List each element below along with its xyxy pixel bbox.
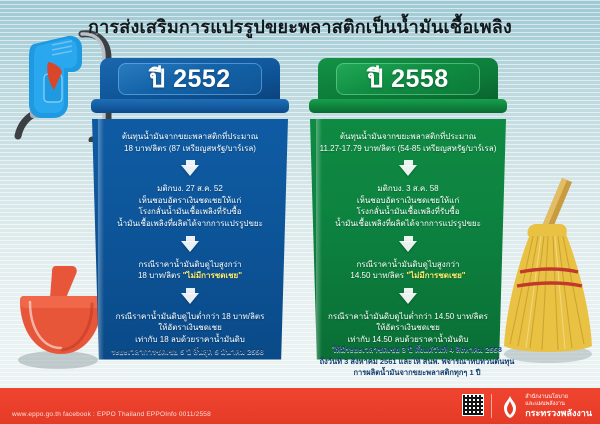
bin-body-green: ต้นทุนน้ำมันจากขยะพลาสติกที่ประมาณ11.27-… — [310, 119, 506, 360]
ministry-logo-block: สำนักงานนโยบาย และแผนพลังงาน กระทรวงพลัง… — [500, 394, 592, 419]
ministry-emblem-icon — [500, 395, 520, 419]
bin-year-2558: ปี 2558 ต้นทุนน้ำมันจากขยะพลาสติกที่ประม… — [310, 58, 506, 360]
step-above-2558: กรณีราคาน้ำมันดิบดูไบสูงกว่า14.50 บาท/ลิ… — [318, 259, 498, 282]
qr-code-icon — [462, 394, 484, 416]
step-above-2552: กรณีราคาน้ำมันดิบดูไบสูงกว่า18 บาท/ลิตร … — [100, 259, 280, 282]
step-resolution-2552: มติกบง. 27 ส.ค. 52เห็นชอบอัตราเงินชดเชยใ… — [100, 183, 280, 229]
infographic-page: การส่งเสริมการแปรรูปขยะพลาสติกเป็นน้ำมัน… — [0, 0, 600, 424]
ministry-text: สำนักงานนโยบาย และแผนพลังงาน กระทรวงพลัง… — [525, 394, 592, 419]
year-label-2558: ปี 2558 — [367, 59, 448, 99]
year-label-2552: ปี 2552 — [149, 59, 230, 99]
highlight-no-subsidy-2558: "ไม่มีการชดเชย" — [406, 271, 465, 280]
ministry-line1: สำนักงานนโยบาย — [525, 394, 592, 401]
arrow-down-icon — [100, 160, 280, 176]
ministry-line2: และแผนพลังงาน — [525, 401, 592, 408]
arrow-down-icon — [318, 288, 498, 304]
bin-year-2552: ปี 2552 ต้นทุนน้ำมันจากขยะพลาสติกที่ประม… — [92, 58, 288, 360]
step-cost-2558: ต้นทุนน้ำมันจากขยะพลาสติกที่ประมาณ11.27-… — [318, 131, 498, 154]
highlight-no-subsidy-2552: "ไม่มีการชดเชย" — [183, 271, 242, 280]
arrow-down-icon — [318, 236, 498, 252]
arrow-down-icon — [318, 160, 498, 176]
arrow-down-icon — [100, 288, 280, 304]
flow-2558: ต้นทุนน้ำมันจากขยะพลาสติกที่ประมาณ11.27-… — [318, 131, 498, 346]
footer-bar: www.eppo.go.th facebook : EPPO Thailand … — [0, 388, 600, 424]
step-below-2558: กรณีราคาน้ำมันดิบดูไบต่ำกว่า 14.50 บาท/ล… — [318, 311, 498, 346]
bin-lid-panel-blue: ปี 2552 — [118, 63, 262, 95]
footer-divider — [491, 394, 492, 418]
flow-2552: ต้นทุนน้ำมันจากขยะพลาสติกที่ประมาณ18 บาท… — [100, 131, 280, 346]
arrow-down-icon — [100, 236, 280, 252]
bin-body-blue: ต้นทุนน้ำมันจากขยะพลาสติกที่ประมาณ18 บาท… — [92, 119, 288, 360]
caption-2552: ระยะเวลาการชดเชย 5 ปี สิ้นสุด 5 มีนาคม 2… — [80, 346, 295, 358]
step-resolution-2558: มติกบง. 3 ส.ค. 58เห็นชอบอัตราเงินชดเชยให… — [318, 183, 498, 229]
step-cost-2552: ต้นทุนน้ำมันจากขยะพลาสติกที่ประมาณ18 บาท… — [100, 131, 280, 154]
bin-lid-panel-green: ปี 2558 — [336, 63, 480, 95]
bin-lid-blue: ปี 2552 — [100, 58, 280, 105]
page-title: การส่งเสริมการแปรรูปขยะพลาสติกเป็นน้ำมัน… — [0, 12, 600, 41]
footer-url: www.eppo.go.th facebook : EPPO Thailand … — [12, 411, 211, 418]
ministry-line3: กระทรวงพลังงาน — [525, 408, 592, 419]
step-below-2552: กรณีราคาน้ำมันดิบดูไบต่ำกว่า 18 บาท/ลิตร… — [100, 311, 280, 346]
bin-lid-green: ปี 2558 — [318, 58, 498, 105]
caption-2558: ให้มีระยะเวลาชดเชย 3 ปี ตั้งแต่วันที่ 4 … — [292, 344, 542, 379]
